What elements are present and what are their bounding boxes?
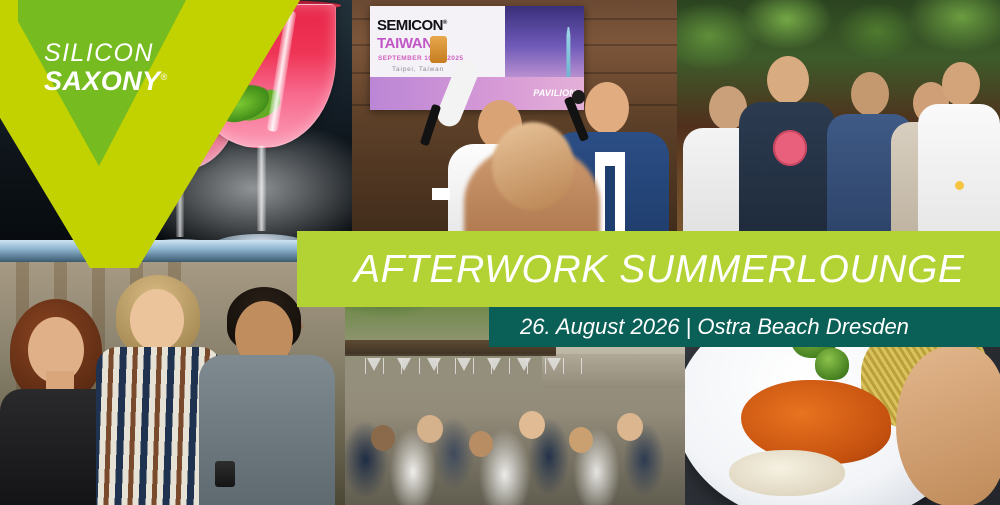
event-subtitle-band: 26. August 2026 | Ostra Beach Dresden	[489, 307, 1000, 347]
event-title: AFTERWORK SUMMERLOUNGE	[354, 250, 965, 289]
event-banner: SEMICON® TAIWAN SEPTEMBER 10-12, 2025 Ta…	[0, 0, 1000, 505]
person-head	[942, 62, 980, 106]
silicon-saxony-logo: SILICON SAXONY®	[0, 0, 300, 268]
screen-region: TAIWAN	[377, 36, 433, 51]
registered-mark: ®	[443, 20, 447, 26]
event-subtitle: 26. August 2026 | Ostra Beach Dresden	[520, 316, 909, 338]
person-head	[130, 289, 184, 351]
friend-person	[199, 287, 335, 505]
logo-wordmark: SILICON SAXONY®	[44, 41, 167, 95]
photo-networking	[677, 0, 1000, 262]
broccoli-piece	[815, 348, 849, 380]
crowd-head	[417, 415, 443, 443]
screen-dates: SEPTEMBER 10-12, 2025	[378, 56, 463, 63]
person-head	[851, 72, 889, 116]
crowd-head	[569, 427, 593, 453]
photo-stage: SEMICON® TAIWAN SEPTEMBER 10-12, 2025 Ta…	[352, 0, 677, 262]
microphone-head	[572, 90, 585, 104]
photo-friends	[0, 262, 345, 505]
logo-line-silicon: SILICON	[44, 41, 167, 66]
crowd-head	[469, 431, 493, 457]
event-title-band: AFTERWORK SUMMERLOUNGE	[297, 231, 1000, 307]
logo-line-saxony: SAXONY®	[44, 68, 167, 95]
table-tennis-paddle-icon	[773, 130, 807, 166]
host-head	[585, 82, 629, 134]
drink-cup	[215, 461, 235, 487]
crowd-head	[617, 413, 643, 441]
person-head	[767, 56, 809, 104]
hand-holding-plate	[896, 346, 1000, 505]
name-badge	[432, 188, 450, 200]
screen-brand-text: SEMICON	[377, 17, 443, 34]
table-tennis-ball-icon	[955, 181, 964, 190]
screen-city: Taipei, Taiwan	[392, 67, 444, 74]
logo-saxony-text: SAXONY	[44, 66, 160, 96]
crowd-head	[371, 425, 395, 451]
crowd-head	[519, 411, 545, 439]
screen-brand: SEMICON®	[377, 18, 447, 33]
speaker-phone	[430, 36, 447, 63]
registered-mark: ®	[160, 72, 167, 82]
rice-portion	[729, 450, 845, 496]
foreground-person-head	[492, 122, 574, 210]
